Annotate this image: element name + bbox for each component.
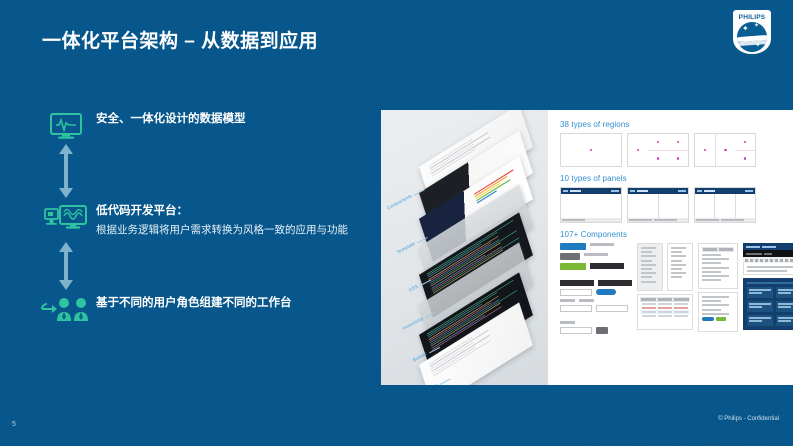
region-dot — [657, 141, 660, 144]
page-title: 一体化平台架构 – 从数据到应用 — [42, 26, 318, 53]
bullet-heading: 低代码开发平台： — [96, 204, 348, 220]
region-thumb-single[interactable] — [560, 133, 622, 167]
app-content-area — [743, 263, 793, 275]
component-group-app-shells — [743, 243, 793, 334]
monitor-ecg-icon — [36, 110, 96, 140]
dashboard-tile[interactable] — [776, 315, 793, 326]
component-catalog: 38 types of regions — [548, 110, 793, 385]
region-dot — [744, 141, 747, 144]
user-roles-icon — [36, 294, 96, 322]
stack-label-accessory: Accessory — [402, 315, 425, 330]
bullet-text-block: 安全、一体化设计的数据模型 — [96, 110, 246, 128]
app-titlebar — [743, 243, 793, 250]
form-header — [702, 247, 734, 252]
bullet-item-lowcode-platform: 低代码开发平台： 根据业务逻辑将用户需求转换为风格一致的应用与功能 — [36, 202, 366, 238]
page-number: 5 — [12, 421, 16, 428]
dashboard-tile[interactable] — [747, 301, 773, 312]
list-card-sample[interactable] — [637, 243, 663, 291]
catalog-heading-panels: 10 types of panels — [560, 174, 793, 183]
panel-thumbnails — [560, 187, 793, 223]
logo-emblem-circle: ✦ ✦ ✦ — [737, 22, 767, 52]
button-secondary-sample[interactable] — [560, 253, 580, 260]
input-dark-sample[interactable] — [590, 263, 624, 269]
region-dot — [704, 149, 707, 152]
catalog-heading-components: 107+ Components — [560, 230, 793, 239]
form-card-sample[interactable] — [698, 243, 738, 289]
logo-star-icon: ✦ — [742, 25, 749, 33]
toggle-sample[interactable] — [596, 289, 616, 295]
panel-thumb-one-pane[interactable] — [560, 187, 622, 223]
logo-star-icon: ✦ — [754, 23, 759, 29]
bullet-list: 安全、一体化设计的数据模型 低代码开发平台： 根据业务逻辑将用户需求转换 — [36, 110, 366, 322]
stack-layers: Components Template CSS Accessory Builde… — [381, 110, 548, 385]
dashboard-tiles — [747, 287, 793, 326]
content-panel: Components Template CSS Accessory Builde… — [381, 110, 781, 385]
table-card-sample[interactable] — [637, 294, 693, 330]
button-success-sample[interactable] — [560, 263, 586, 270]
dashboard-tile[interactable] — [776, 287, 793, 298]
catalog-heading-regions: 38 types of regions — [560, 120, 793, 129]
button-primary-sample[interactable] — [560, 243, 586, 250]
label-line — [579, 299, 594, 302]
dashboard-tile[interactable] — [747, 315, 773, 326]
input-dark-sample[interactable] — [598, 280, 632, 286]
button-sample[interactable] — [702, 317, 714, 321]
philips-shield-logo: PHILIPS ✦ ✦ ✦ — [729, 10, 775, 58]
bullet-item-user-roles: 基于不同的用户角色组建不同的工作台 — [36, 294, 366, 322]
region-dot — [677, 141, 680, 144]
bullet-text-block: 低代码开发平台： 根据业务逻辑将用户需求转换为风格一致的应用与功能 — [96, 202, 348, 238]
region-dot — [590, 149, 593, 152]
app-shell-sample[interactable] — [743, 243, 793, 275]
exploded-stack-diagram: Components Template CSS Accessory Builde… — [381, 110, 548, 385]
button-sample[interactable] — [716, 317, 726, 321]
table-row[interactable] — [640, 314, 690, 318]
region-dot — [677, 157, 680, 160]
stack-label-template: Template — [396, 241, 416, 255]
bullet-text-block: 基于不同的用户角色组建不同的工作台 — [96, 294, 292, 312]
component-group-controls — [560, 243, 632, 334]
region-dot — [744, 157, 747, 160]
logo-wordmark: PHILIPS — [733, 14, 771, 21]
component-group-forms — [698, 243, 738, 334]
label-line — [590, 243, 614, 246]
region-thumbnails — [560, 133, 793, 167]
dashboard-tile[interactable] — [747, 287, 773, 298]
dual-monitor-icon — [36, 202, 96, 232]
bullet-item-data-model: 安全、一体化设计的数据模型 — [36, 110, 366, 140]
dashboard-tile[interactable] — [776, 301, 793, 312]
double-arrow-2 — [36, 242, 96, 290]
app-toolbar — [743, 250, 793, 257]
component-thumbnails — [560, 243, 793, 334]
confidential-note: © Philips - Confidential — [718, 416, 779, 422]
list-card-sample[interactable] — [667, 243, 693, 291]
logo-shield-shape: PHILIPS ✦ ✦ ✦ — [733, 10, 771, 54]
input-dark-sample[interactable] — [560, 280, 594, 286]
stack-label-components: Components — [386, 193, 413, 211]
text-input-sample[interactable] — [560, 327, 592, 334]
region-thumb-split-2x2[interactable] — [627, 133, 689, 167]
region-thumb-three-col[interactable] — [694, 133, 756, 167]
component-group-lists — [637, 243, 693, 334]
label-line — [560, 321, 575, 324]
bullet-heading: 基于不同的用户角色组建不同的工作台 — [96, 296, 292, 312]
stack-label-css: CSS — [408, 284, 419, 293]
dashboard-title — [747, 282, 793, 284]
dashboard-sample[interactable] — [743, 278, 793, 330]
region-dot — [724, 149, 727, 152]
panel-thumb-two-pane[interactable] — [627, 187, 689, 223]
panel-thumb-three-pane[interactable] — [694, 187, 756, 223]
region-dot — [637, 149, 640, 152]
region-dot — [657, 157, 660, 160]
bullet-subtext: 根据业务逻辑将用户需求转换为风格一致的应用与功能 — [96, 223, 348, 238]
form-card-sample[interactable] — [698, 292, 738, 332]
label-line — [584, 253, 608, 256]
button-icon-sample[interactable] — [596, 327, 608, 334]
date-input-sample[interactable] — [596, 305, 628, 312]
bullet-heading: 安全、一体化设计的数据模型 — [96, 112, 246, 128]
double-arrow-1 — [36, 144, 96, 198]
text-input-sample[interactable] — [560, 305, 592, 312]
text-input-sample[interactable] — [560, 289, 592, 296]
label-line — [560, 299, 575, 302]
